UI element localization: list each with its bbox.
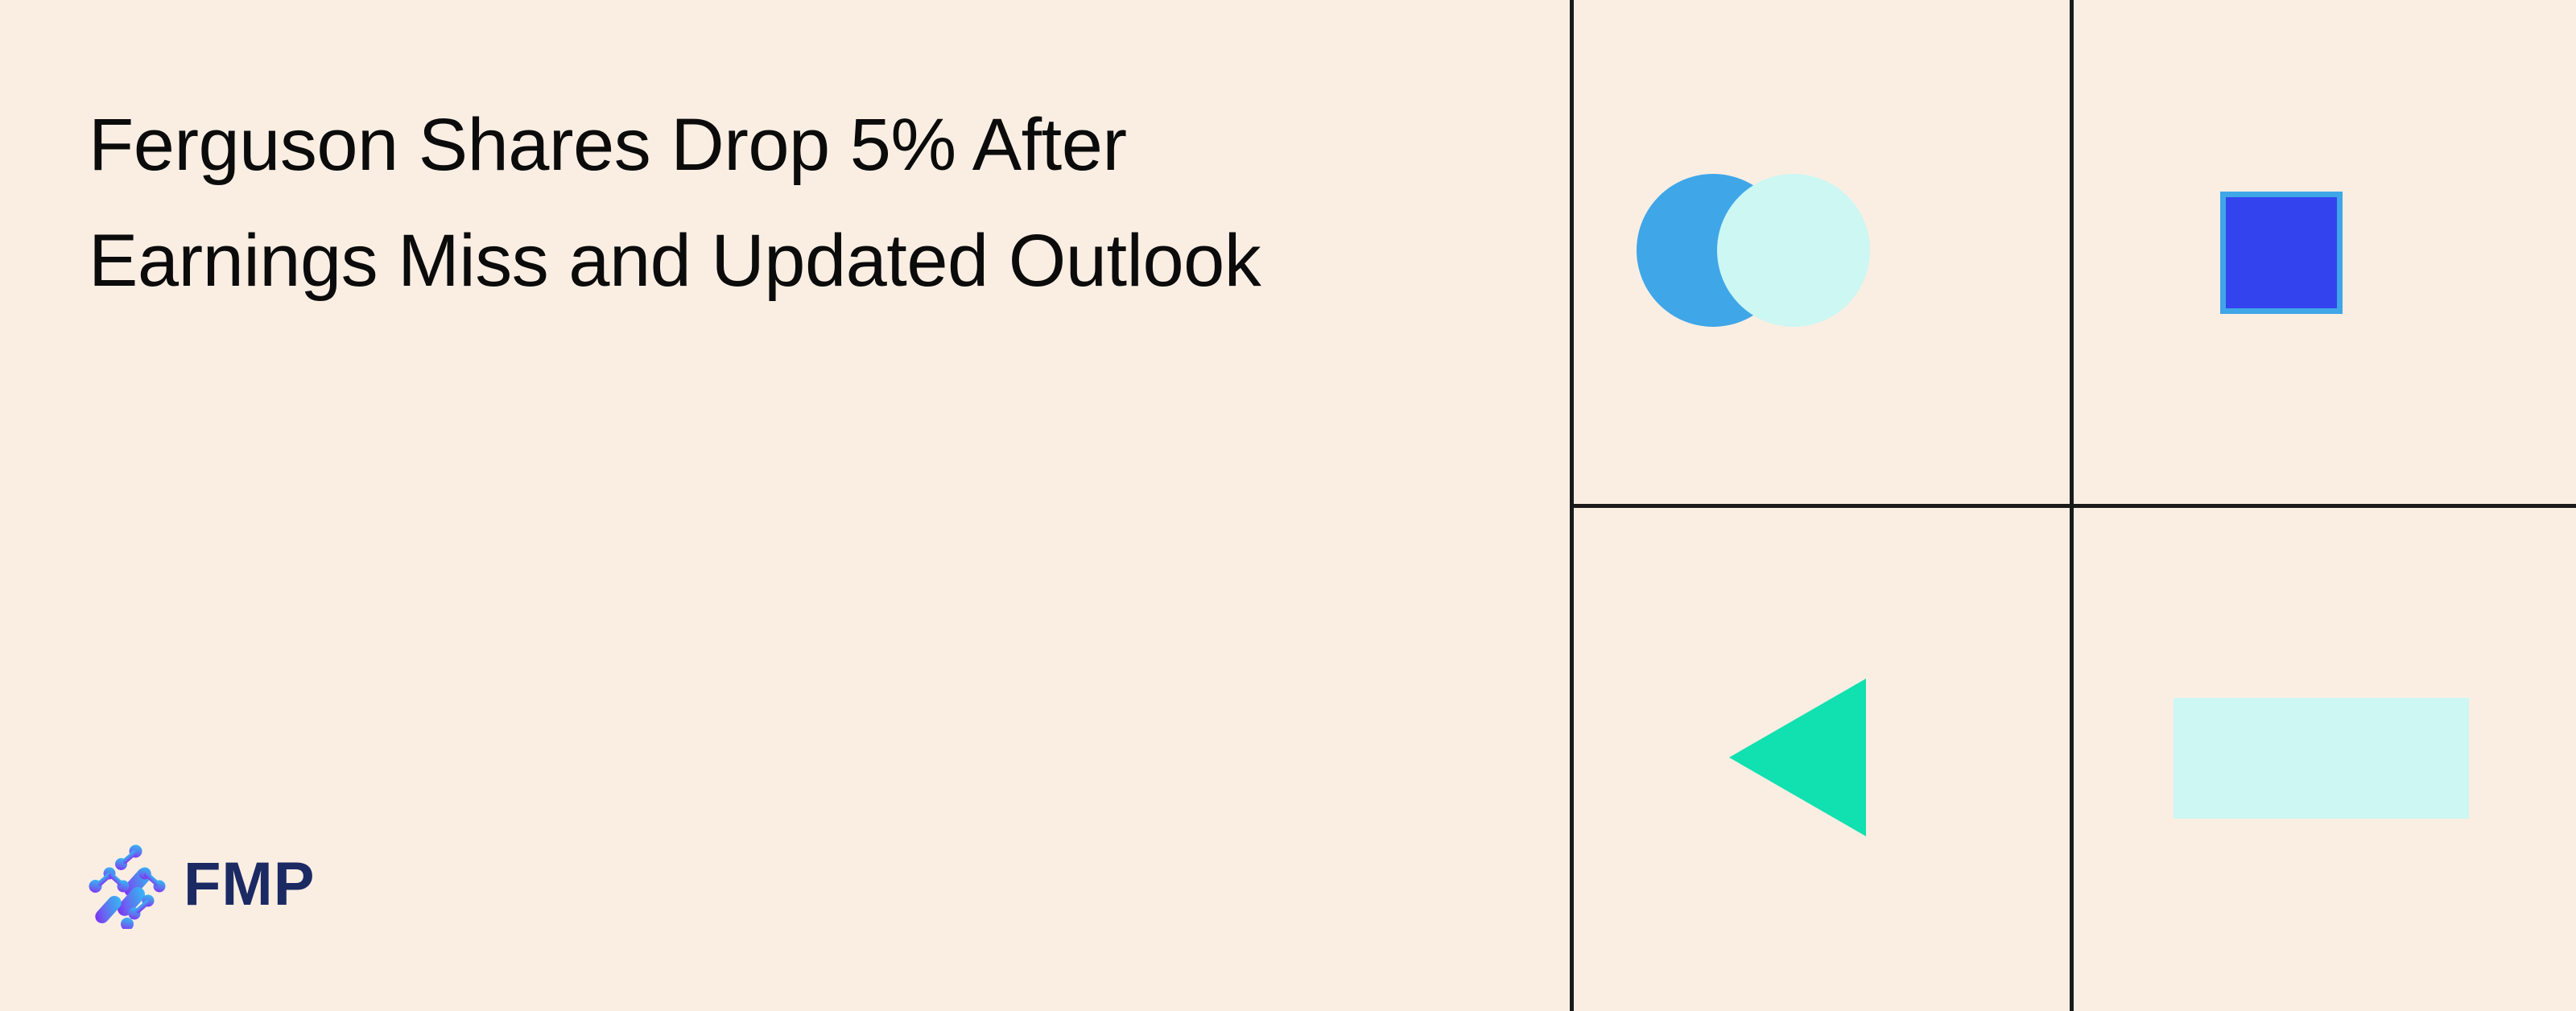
rectangle-cyan-shape (2173, 698, 2469, 819)
decorative-shape-grid (1570, 0, 2576, 1011)
triangle-left-green-shape (1729, 679, 1866, 836)
brand-wordmark: FMP (184, 854, 315, 915)
grid-cell-top-left (1574, 0, 2070, 504)
page-title: Ferguson Shares Drop 5% After Earnings M… (89, 87, 1409, 319)
content-panel: Ferguson Shares Drop 5% After Earnings M… (0, 0, 1570, 1011)
grid-cell-top-right (2074, 0, 2576, 504)
grid-cell-bottom-right (2074, 508, 2576, 1011)
fmp-network-nodes-icon (89, 840, 166, 929)
brand-logo: FMP (89, 840, 315, 929)
news-card-canvas: Ferguson Shares Drop 5% After Earnings M… (0, 0, 2576, 1011)
square-royal-blue-shape (2220, 192, 2343, 314)
circle-cyan-shape (1717, 174, 1870, 327)
grid-cell-bottom-left (1574, 508, 2070, 1011)
